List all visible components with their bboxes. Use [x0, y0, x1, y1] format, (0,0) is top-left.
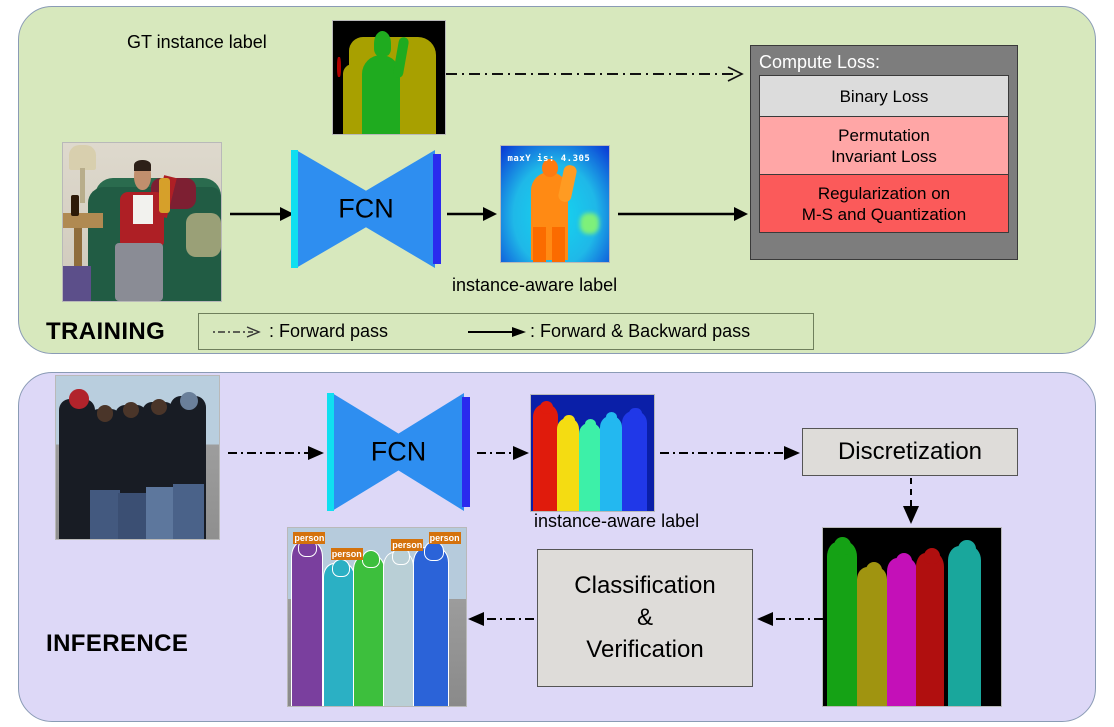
legend-forward-backward-pass: : Forward & Backward pass	[468, 321, 750, 342]
arrow-discretization-to-segmentation	[900, 478, 922, 526]
gt-instance-label-caption: GT instance label	[127, 32, 267, 53]
discretization-box[interactable]: Discretization	[802, 428, 1018, 476]
legend-dashed-arrow-icon	[213, 324, 265, 340]
arrow-gt-to-loss	[446, 63, 752, 85]
arrow-fcn-to-heatmap-training	[447, 205, 499, 223]
fcn-block-inference: FCN	[327, 393, 470, 511]
discretized-segmentation-image	[822, 527, 1002, 707]
detection-tag-person-3: person	[391, 539, 423, 551]
classification-line-3: Verification	[574, 634, 715, 666]
inference-instance-aware-heatmap	[530, 394, 655, 512]
legend-solid-arrow-icon	[468, 324, 530, 340]
legend-forward-pass-label: : Forward pass	[269, 321, 388, 342]
classification-line-2: &	[574, 602, 715, 634]
detection-tag-person-4: person	[429, 532, 461, 544]
fcn-label-training: FCN	[291, 194, 441, 225]
loss-permutation-line1: Permutation	[831, 125, 937, 146]
loss-regularization-line1: Regularization on	[802, 183, 966, 204]
detection-tag-person-2: person	[331, 548, 363, 560]
training-instance-aware-heatmap: maxY is: 4.305	[500, 145, 610, 263]
inference-instance-aware-caption: instance-aware label	[534, 511, 699, 532]
inference-input-photo	[55, 375, 220, 540]
legend-forward-backward-pass-label: : Forward & Backward pass	[530, 321, 750, 342]
fcn-label-inference: FCN	[327, 437, 470, 468]
classification-verification-box[interactable]: Classification & Verification	[537, 549, 753, 687]
loss-row-permutation: Permutation Invariant Loss	[759, 117, 1009, 175]
training-instance-aware-caption: instance-aware label	[452, 275, 617, 296]
arrow-input-to-fcn-training	[230, 205, 296, 223]
arrow-input-to-fcn-inference	[228, 444, 326, 462]
gt-instance-label-image	[332, 20, 446, 135]
compute-loss-box: Compute Loss: Binary Loss Permutation In…	[750, 45, 1018, 260]
fcn-block-training: FCN	[291, 150, 441, 268]
arrow-classification-to-result	[466, 610, 536, 628]
heatmap-maxy-text: maxY is: 4.305	[507, 154, 590, 164]
loss-row-regularization: Regularization on M-S and Quantization	[759, 175, 1009, 233]
loss-permutation-line2: Invariant Loss	[831, 146, 937, 167]
compute-loss-title: Compute Loss:	[759, 50, 1009, 75]
arrow-heatmap-to-loss	[618, 205, 750, 223]
loss-regularization-line2: M-S and Quantization	[802, 204, 966, 225]
arrow-segmentation-to-classification	[755, 610, 825, 628]
arrow-heatmap-to-discretization	[660, 444, 802, 462]
loss-row-binary: Binary Loss	[759, 75, 1009, 117]
legend-forward-pass: : Forward pass	[213, 321, 388, 342]
legend-box: : Forward pass : Forward & Backward pass	[198, 313, 814, 350]
inference-phase-label: INFERENCE	[46, 630, 188, 658]
training-phase-label: TRAINING	[46, 318, 165, 346]
classification-line-1: Classification	[574, 570, 715, 602]
arrow-fcn-to-heatmap-inference	[477, 444, 531, 462]
detection-tag-person-1: person	[293, 532, 325, 544]
training-input-photo	[62, 142, 222, 302]
classification-result-image: person person person person	[287, 527, 467, 707]
